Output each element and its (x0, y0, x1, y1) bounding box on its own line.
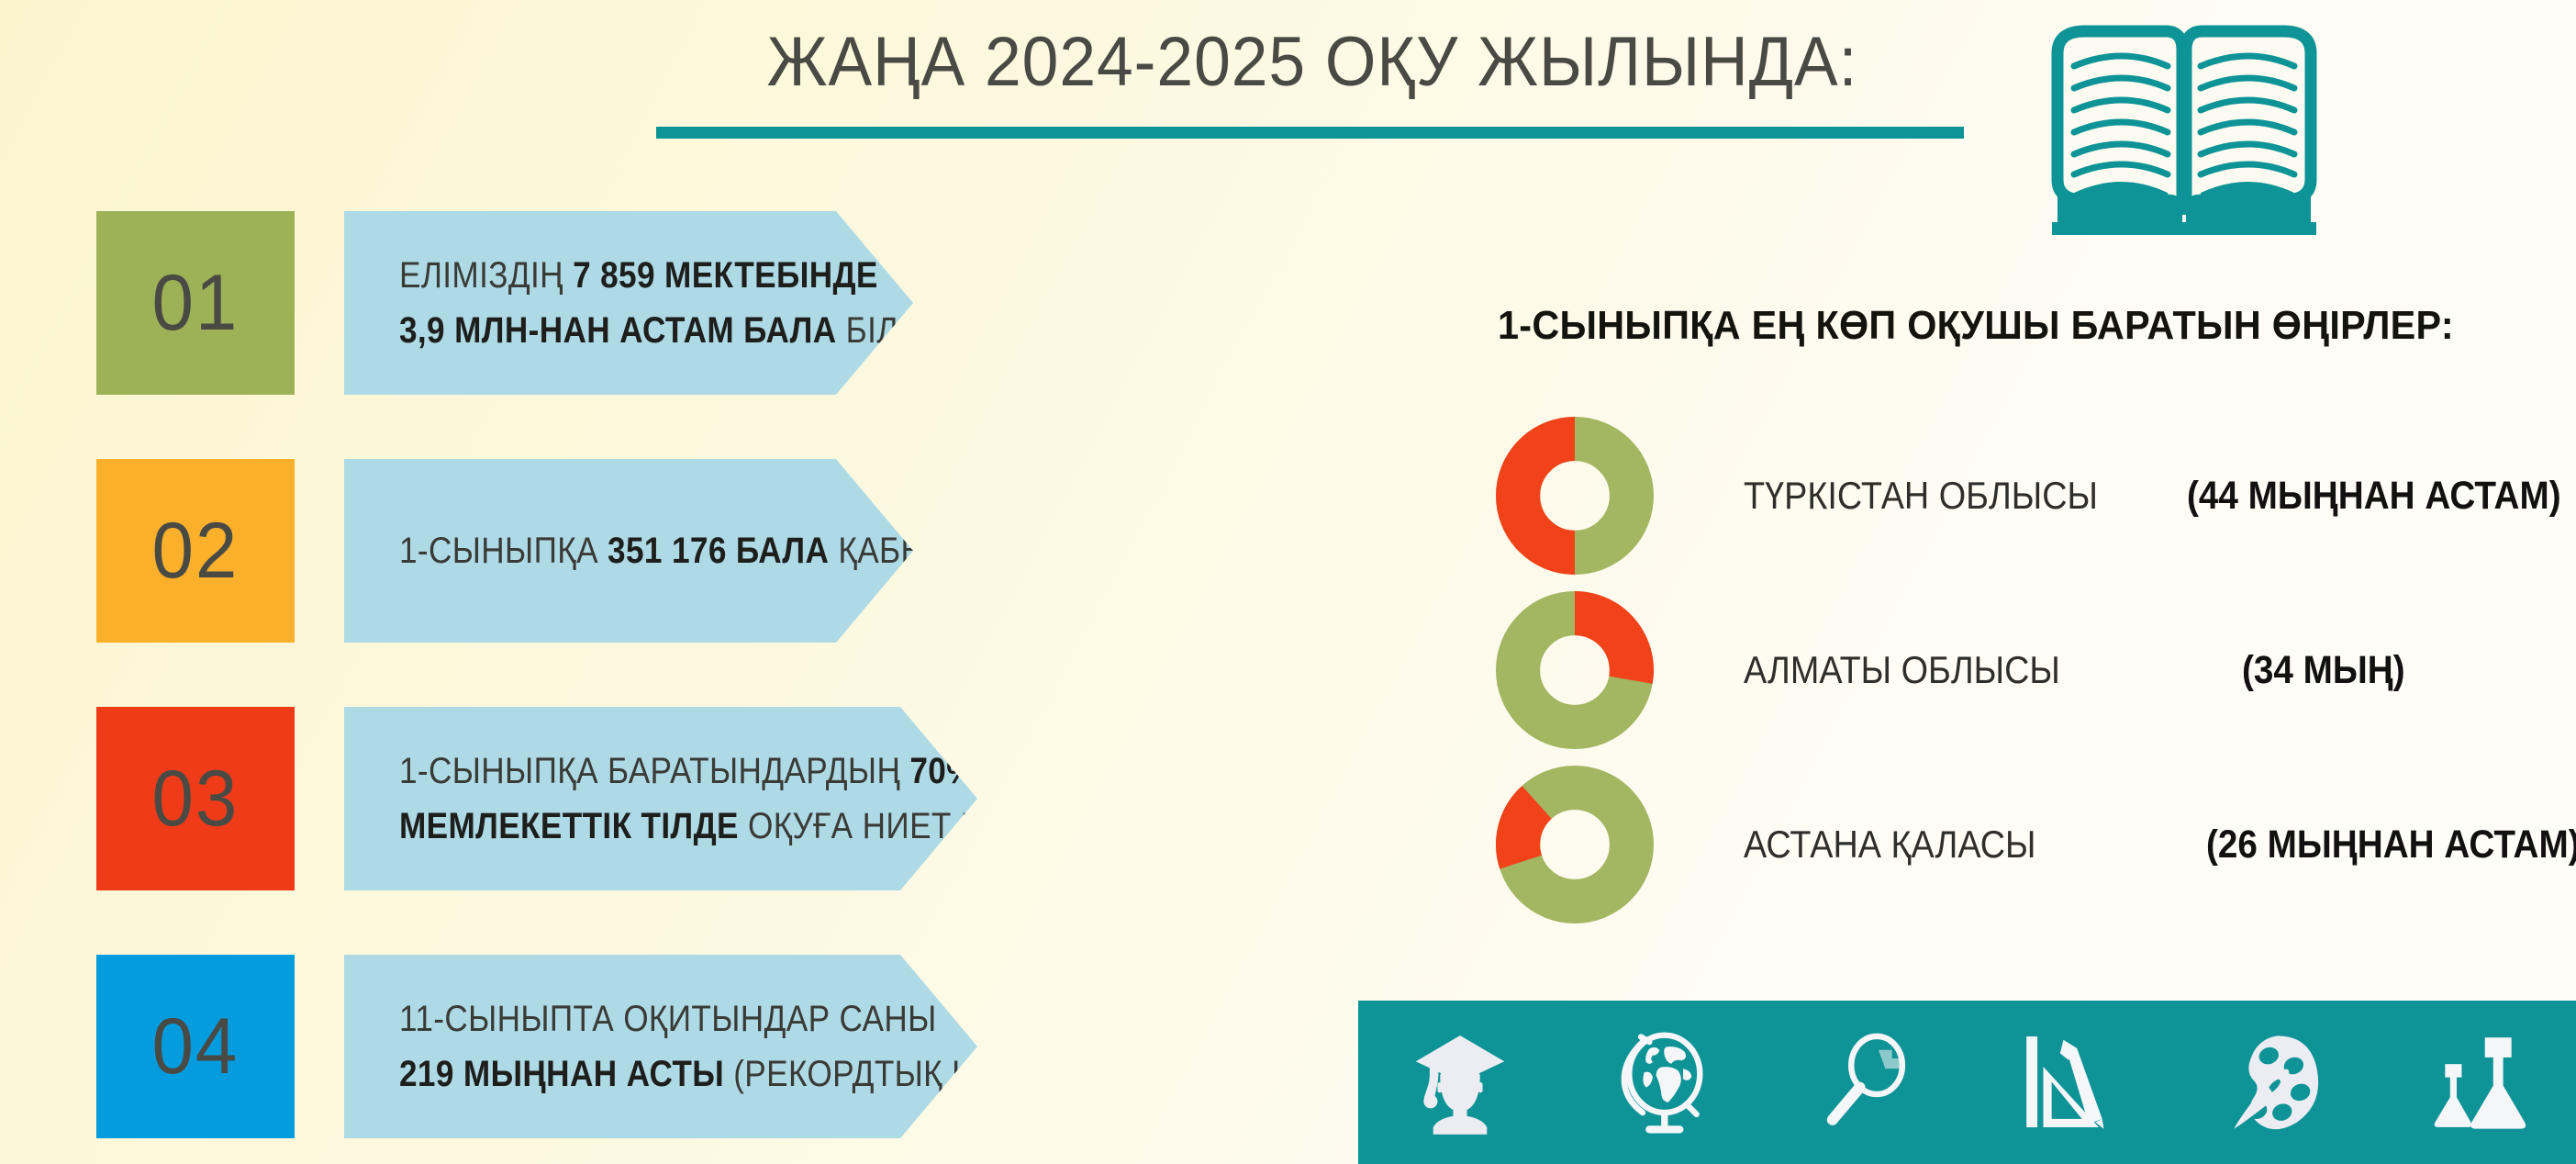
donut-chart-almaty (1496, 591, 1654, 749)
ruler-triangle-pencil-icon (1968, 1029, 2170, 1136)
paint-palette-icon (2170, 1031, 2373, 1135)
stat-highlight: 70%-ҒА ЖУЫҒЫ (909, 751, 1171, 791)
stat-text: ҚАБЫЛДАНДЫ (838, 531, 1070, 571)
region-value: (34 МЫҢ) (2242, 648, 2405, 693)
stat-text: 1-СЫНЫПҚА (399, 531, 608, 571)
title-underline (656, 127, 1964, 139)
stat-banner-01: ЕЛІМІЗДІҢ 7 859 МЕКТЕБІНДЕ 3,9 МЛН-НАН А… (344, 211, 913, 395)
region-name: АЛМАТЫ ОБЛЫСЫ (1744, 648, 2060, 692)
page-title: ЖАҢА 2024-2025 ОҚУ ЖЫЛЫНДА: (696, 26, 1929, 99)
region-row: АСТАНА ҚАЛАСЫ (26 МЫҢНАН АСТАМ) (1496, 762, 2576, 927)
open-book-icon (2037, 18, 2331, 248)
stat-highlight: 3,9 МЛН-НАН АСТАМ БАЛА (399, 310, 846, 351)
stat-highlight: 7 859 МЕКТЕБІНДЕ (573, 255, 878, 296)
subject-icon-bar (1358, 1001, 2576, 1164)
stat-text: (РЕКОРДТЫҚ КӨРСЕТКІШ) (733, 1054, 1153, 1094)
number-label-01: 01 (152, 258, 240, 349)
stat-banner-03: 1-СЫНЫПҚА БАРАТЫНДАРДЫҢ 70%-ҒА ЖУЫҒЫ МЕМ… (344, 707, 977, 890)
region-row: ТҮРКІСТАН ОБЛЫСЫ (44 МЫҢНАН АСТАМ) (1496, 413, 2576, 578)
chemistry-flasks-icon (2373, 1031, 2576, 1135)
number-tile-02: 02 (96, 459, 295, 643)
region-name: ТҮРКІСТАН ОБЛЫСЫ (1744, 474, 2098, 518)
stat-highlight: МЕМЛЕКЕТТІК ТІЛДЕ (399, 806, 748, 846)
stat-highlight: 351 176 БАЛА (608, 531, 838, 571)
stat-line: МЕМЛЕКЕТТІК ТІЛДЕ ОҚУҒА НИЕТ БІЛДІРДІ (399, 799, 908, 854)
regions-heading: 1-СЫНЫПҚА ЕҢ КӨП ОҚУШЫ БАРАТЫН ӨҢІРЛЕР: (1498, 303, 2454, 349)
stat-text: 1-СЫНЫПҚА БАРАТЫНДАРДЫҢ (399, 751, 909, 791)
globe-icon (1561, 1030, 1764, 1136)
stat-line: 1-СЫНЫПҚА БАРАТЫНДАРДЫҢ 70%-ҒА ЖУЫҒЫ (399, 744, 908, 799)
stat-line: 3,9 МЛН-НАН АСТАМ БАЛА БІЛІМ АЛАДЫ (399, 303, 852, 358)
stat-text: БІЛІМ АЛАДЫ (846, 310, 1063, 351)
region-value: (26 МЫҢНАН АСТАМ) (2206, 823, 2576, 867)
number-label-02: 02 (152, 506, 240, 597)
graduate-student-icon (1358, 1030, 1561, 1135)
number-tile-01: 01 (96, 211, 295, 395)
stat-banner-02: 1-СЫНЫПҚА 351 176 БАЛА ҚАБЫЛДАНДЫ (344, 459, 913, 643)
stat-line: 11-СЫНЫПТА ОҚИТЫНДАР САНЫ (399, 991, 908, 1046)
stat-highlight: 219 МЫҢНАН АСТЫ (399, 1054, 733, 1094)
number-label-04: 04 (152, 1002, 240, 1092)
stat-text: ОҚУҒА НИЕТ БІЛДІРДІ (748, 806, 1096, 846)
number-tile-04: 04 (96, 955, 295, 1138)
region-row: АЛМАТЫ ОБЛЫСЫ (34 МЫҢ) (1496, 588, 2424, 753)
region-name: АСТАНА ҚАЛАСЫ (1744, 823, 2036, 867)
stat-line: ЕЛІМІЗДІҢ 7 859 МЕКТЕБІНДЕ (399, 248, 852, 303)
region-value: (44 МЫҢНАН АСТАМ) (2187, 474, 2561, 519)
stat-banner-04: 11-СЫНЫПТА ОҚИТЫНДАР САНЫ 219 МЫҢНАН АСТ… (344, 955, 977, 1138)
donut-chart-astana (1496, 766, 1654, 923)
infographic-canvas: ЖАҢА 2024-2025 ОҚУ ЖЫЛЫНДА: (0, 0, 2576, 1164)
stat-text: 11-СЫНЫПТА ОҚИТЫНДАР САНЫ (399, 999, 937, 1039)
stat-line: 1-СЫНЫПҚА 351 176 БАЛА ҚАБЫЛДАНДЫ (399, 531, 852, 571)
title-block: ЖАҢА 2024-2025 ОҚУ ЖЫЛЫНДА: (656, 26, 1968, 139)
number-tile-03: 03 (96, 707, 295, 890)
stat-text: ЕЛІМІЗДІҢ (399, 255, 573, 296)
donut-chart-turkistan (1496, 417, 1654, 575)
number-label-03: 03 (152, 754, 240, 845)
stat-line: 219 МЫҢНАН АСТЫ (РЕКОРДТЫҚ КӨРСЕТКІШ) (399, 1046, 908, 1102)
magnifying-glass-icon (1764, 1031, 1967, 1134)
